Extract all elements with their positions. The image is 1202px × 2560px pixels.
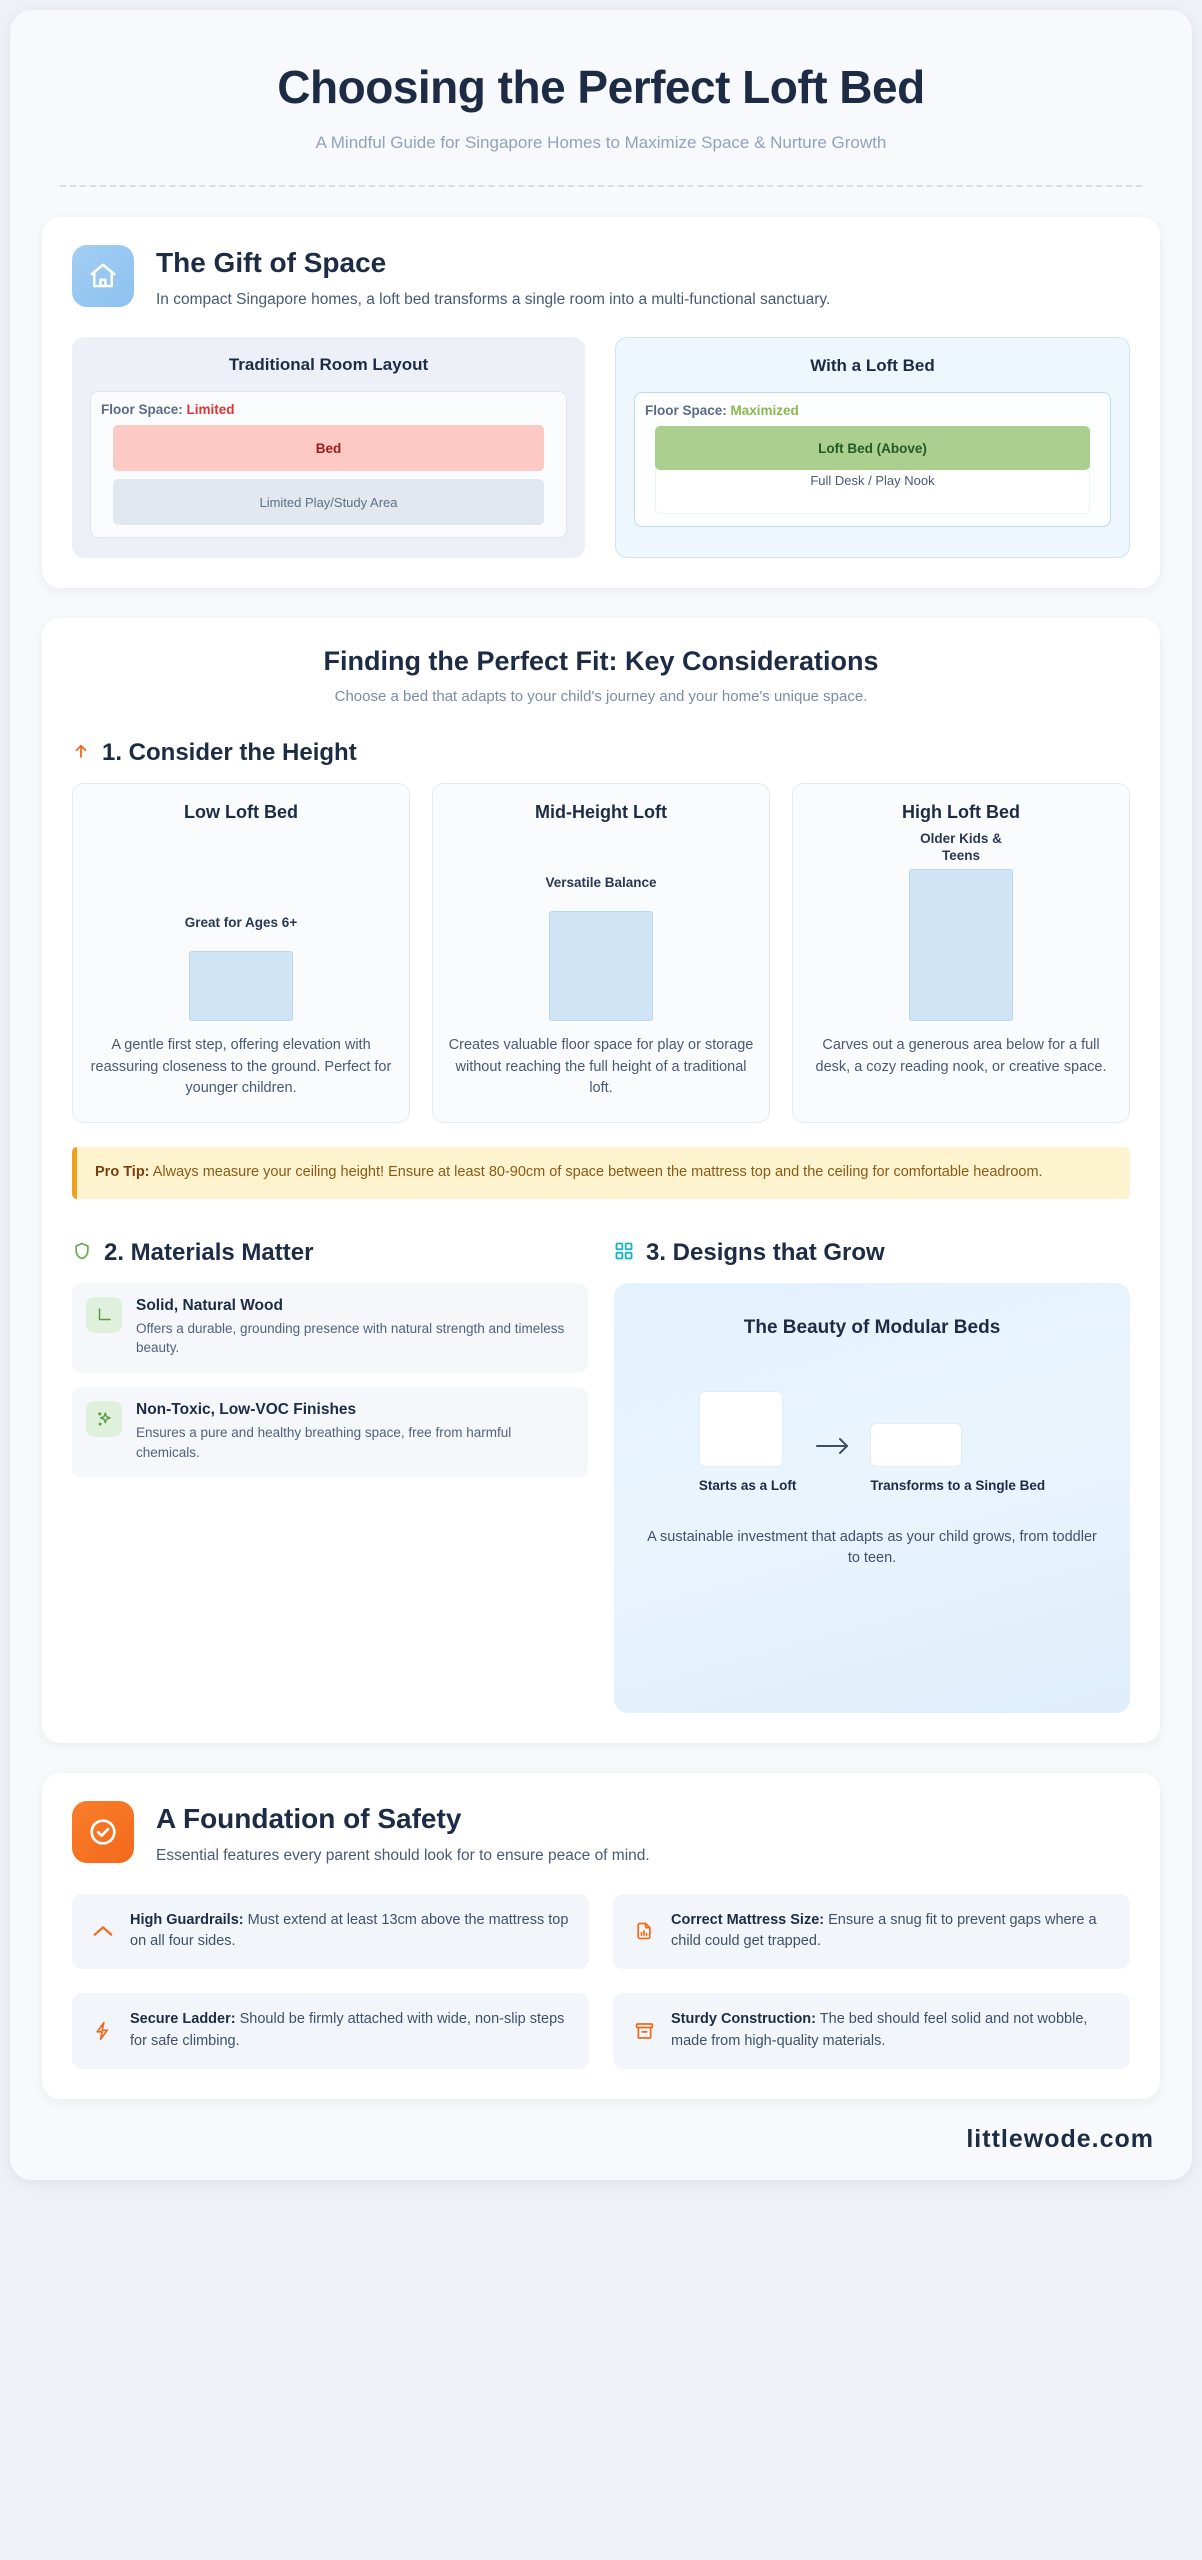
pro-tip-callout: Pro Tip: Always measure your ceiling hei…: [72, 1147, 1130, 1199]
grid-squares-icon: [614, 1241, 634, 1266]
safety-item: Secure Ladder: Should be firmly attached…: [72, 1993, 589, 2069]
page-root: Choosing the Perfect Loft Bed A Mindful …: [0, 0, 1202, 2560]
traditional-room-diagram: Floor Space: Limited Bed Limited Play/St…: [90, 391, 567, 538]
step1-heading: 1. Consider the Height: [102, 739, 357, 767]
traditional-floor-space-label: Floor Space: Limited: [101, 402, 556, 417]
hero-header: Choosing the Perfect Loft Bed A Mindful …: [42, 40, 1160, 187]
safety-item-title: Sturdy Construction:: [671, 2011, 816, 2027]
height-visual: Older Kids & Teens: [807, 831, 1115, 1021]
bed-block: Bed: [113, 425, 544, 471]
play-area-block: Limited Play/Study Area: [113, 479, 544, 525]
material-item: Solid, Natural Wood Offers a durable, gr…: [72, 1283, 588, 1373]
height-visual: Versatile Balance: [447, 831, 755, 1021]
material-description: Ensures a pure and healthy breathing spa…: [136, 1423, 572, 1461]
loft-room-diagram: Floor Space: Maximized Loft Bed (Above) …: [634, 392, 1111, 527]
lightning-bolt-icon: [90, 2019, 116, 2043]
safety-header: A Foundation of Safety Essential feature…: [72, 1801, 1130, 1868]
loft-stack: Loft Bed (Above) Full Desk / Play Nook: [645, 446, 1100, 514]
section-safety: A Foundation of Safety Essential feature…: [42, 1773, 1160, 2099]
home-icon: [72, 245, 134, 307]
height-card: High Loft Bed Older Kids & Teens Carves …: [792, 783, 1130, 1122]
loft-bed-block: Loft Bed (Above): [655, 426, 1090, 470]
height-card-description: A gentle first step, offering elevation …: [87, 1035, 395, 1099]
modular-stage-b: Transforms to a Single Bed: [870, 1423, 1045, 1495]
safety-item-title: Correct Mattress Size:: [671, 1912, 824, 1928]
safety-item-grid: High Guardrails: Must extend at least 13…: [72, 1894, 1130, 2069]
key-considerations-title: Finding the Perfect Fit: Key Considerati…: [72, 646, 1130, 677]
hero-divider: [60, 185, 1142, 187]
step3-heading-row: 3. Designs that Grow: [614, 1239, 1130, 1267]
floor-space-value: Limited: [187, 402, 235, 417]
modular-stage-a-label: Starts as a Loft: [699, 1477, 797, 1495]
gift-of-space-title: The Gift of Space: [156, 247, 830, 279]
height-card-title: High Loft Bed: [807, 802, 1115, 823]
ruler-corner-icon: [86, 1297, 122, 1333]
height-bar: [909, 869, 1013, 1021]
page-subtitle: A Mindful Guide for Singapore Homes to M…: [52, 133, 1150, 153]
height-visual: Great for Ages 6+: [87, 831, 395, 1021]
material-title: Solid, Natural Wood: [136, 1297, 572, 1315]
traditional-room-title: Traditional Room Layout: [90, 355, 567, 375]
safety-item: High Guardrails: Must extend at least 13…: [72, 1894, 589, 1970]
footer-brand: littlewode.com: [42, 2125, 1160, 2154]
height-card: Mid-Height Loft Versatile Balance Create…: [432, 783, 770, 1122]
safety-item-title: Secure Ladder:: [130, 2011, 236, 2027]
safety-item-title: High Guardrails:: [130, 1912, 244, 1928]
safety-description: Essential features every parent should l…: [156, 1845, 650, 1867]
height-card-title: Mid-Height Loft: [447, 802, 755, 823]
height-card-grid: Low Loft Bed Great for Ages 6+ A gentle …: [72, 783, 1130, 1122]
loft-shape: [699, 1391, 783, 1467]
floor-space-text: Floor Space:: [101, 402, 183, 417]
traditional-room-panel: Traditional Room Layout Floor Space: Lim…: [72, 337, 585, 558]
infographic-card: Choosing the Perfect Loft Bed A Mindful …: [10, 10, 1192, 2180]
height-card-caption: Great for Ages 6+: [87, 915, 395, 932]
step1-heading-row: 1. Consider the Height: [72, 739, 1130, 767]
step2-heading: 2. Materials Matter: [104, 1239, 313, 1267]
pro-tip-text: Always measure your ceiling height! Ensu…: [153, 1164, 1043, 1180]
modular-stage-b-label: Transforms to a Single Bed: [870, 1477, 1045, 1495]
modular-beds-panel: The Beauty of Modular Beds Starts as a L…: [614, 1283, 1130, 1713]
check-circle-icon: [72, 1801, 134, 1863]
material-description: Offers a durable, grounding presence wit…: [136, 1319, 572, 1357]
height-bar: [189, 951, 293, 1021]
safety-item: Sturdy Construction: The bed should feel…: [613, 1993, 1130, 2069]
safety-item: Correct Mattress Size: Ensure a snug fit…: [613, 1894, 1130, 1970]
key-considerations-subtitle: Choose a bed that adapts to your child's…: [72, 688, 1130, 705]
arrow-right-icon: [814, 1436, 852, 1495]
arrow-up-icon: [72, 740, 90, 767]
shield-icon: [72, 1240, 92, 1267]
step3-heading: 3. Designs that Grow: [646, 1239, 885, 1267]
archive-box-icon: [631, 2020, 657, 2042]
modular-transform-diagram: Starts as a Loft Transforms to a Single …: [640, 1391, 1104, 1495]
step2-heading-row: 2. Materials Matter: [72, 1239, 588, 1267]
floor-space-text: Floor Space:: [645, 403, 727, 418]
section-gift-of-space: The Gift of Space In compact Singapore h…: [42, 217, 1160, 589]
gift-of-space-header: The Gift of Space In compact Singapore h…: [72, 245, 1130, 312]
modular-note: A sustainable investment that adapts as …: [640, 1527, 1104, 1571]
loft-room-title: With a Loft Bed: [634, 356, 1111, 376]
safety-title: A Foundation of Safety: [156, 1803, 650, 1835]
height-card-caption: Older Kids & Teens: [913, 831, 1009, 865]
section-key-considerations: Finding the Perfect Fit: Key Considerati…: [42, 618, 1160, 1743]
materials-designs-row: 2. Materials Matter Solid, Natural Wood …: [72, 1231, 1130, 1713]
material-item: Non-Toxic, Low-VOC Finishes Ensures a pu…: [72, 1387, 588, 1477]
page-title: Choosing the Perfect Loft Bed: [52, 62, 1150, 113]
modular-stage-a: Starts as a Loft: [699, 1391, 797, 1495]
sparkles-icon: [86, 1401, 122, 1437]
room-comparison: Traditional Room Layout Floor Space: Lim…: [72, 337, 1130, 558]
designs-column: 3. Designs that Grow The Beauty of Modul…: [614, 1231, 1130, 1713]
height-card: Low Loft Bed Great for Ages 6+ A gentle …: [72, 783, 410, 1122]
height-bar: [549, 911, 653, 1021]
loft-room-panel: With a Loft Bed Floor Space: Maximized L…: [615, 337, 1130, 558]
height-card-title: Low Loft Bed: [87, 802, 395, 823]
single-bed-shape: [870, 1423, 962, 1467]
pro-tip-label: Pro Tip:: [95, 1164, 150, 1180]
gift-of-space-description: In compact Singapore homes, a loft bed t…: [156, 289, 830, 311]
loft-floor-space-label: Floor Space: Maximized: [645, 403, 1100, 418]
materials-column: 2. Materials Matter Solid, Natural Wood …: [72, 1231, 588, 1478]
modular-panel-title: The Beauty of Modular Beds: [640, 1317, 1104, 1339]
floor-space-value: Maximized: [731, 403, 799, 418]
material-title: Non-Toxic, Low-VOC Finishes: [136, 1401, 572, 1419]
file-chart-icon: [631, 1919, 657, 1943]
height-card-description: Carves out a generous area below for a f…: [807, 1035, 1115, 1078]
chevron-up-icon: [90, 1923, 116, 1939]
height-card-description: Creates valuable floor space for play or…: [447, 1035, 755, 1099]
height-card-caption: Versatile Balance: [447, 875, 755, 892]
